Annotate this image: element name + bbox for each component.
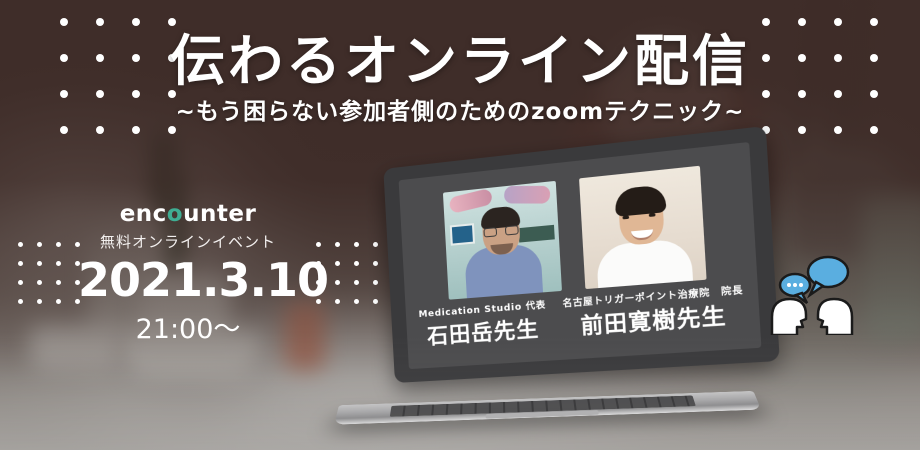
speaker-right-body	[596, 238, 693, 288]
webinar-promo-banner: 伝わるオンライン配信 ~もう困らない参加者側のためのzoomテクニック~ enc…	[0, 0, 920, 450]
decorative-dot	[316, 242, 321, 247]
event-info-block: encounter 無料オンラインイベント 2021.3.10 21:00〜	[78, 202, 298, 346]
speaker-caption-left: Medication Studio 代表 石田岳先生	[418, 297, 548, 351]
page-title: 伝わるオンライン配信	[0, 16, 920, 96]
video-tiles	[417, 163, 736, 302]
decorative-dot	[37, 299, 42, 304]
decorative-dot	[18, 261, 23, 266]
decorative-dot	[37, 280, 42, 285]
speaker-right-hair	[614, 184, 666, 216]
or-equipment	[518, 225, 554, 243]
decorative-dot	[18, 242, 23, 247]
decorative-dot	[56, 280, 61, 285]
logo-suffix: unter	[183, 201, 256, 227]
laptop-illustration: Medication Studio 代表 石田岳先生 名古屋トリガーポイント治療…	[335, 168, 760, 450]
decorative-dot	[798, 126, 806, 134]
video-tile-left	[443, 181, 562, 300]
laptop-lid: Medication Studio 代表 石田岳先生 名古屋トリガーポイント治療…	[383, 126, 779, 383]
event-date: 2021.3.10	[78, 256, 298, 304]
decorative-dot	[834, 126, 842, 134]
decorative-dot	[37, 242, 42, 247]
page-subtitle: ~もう困らない参加者側のためのzoomテクニック~	[0, 92, 920, 126]
decorative-dot	[37, 261, 42, 266]
dot-grid-mid-left	[18, 242, 80, 304]
decorative-dot	[132, 126, 140, 134]
decorative-dot	[168, 126, 176, 134]
logo-accent-o: o	[167, 201, 183, 227]
decorative-dot	[870, 126, 878, 134]
or-monitor-icon	[450, 223, 475, 246]
decorative-dot	[18, 280, 23, 285]
logo-prefix: enc	[120, 201, 167, 227]
laptop-screen: Medication Studio 代表 石田岳先生 名古屋トリガーポイント治療…	[399, 142, 762, 369]
decorative-dot	[56, 242, 61, 247]
video-tile-right	[579, 166, 707, 289]
decorative-dot	[56, 299, 61, 304]
decorative-dot	[96, 126, 104, 134]
event-time: 21:00〜	[78, 307, 298, 346]
two-people-speech-bubbles-icon	[760, 255, 862, 335]
laptop-base	[334, 391, 761, 425]
free-event-label: 無料オンラインイベント	[78, 231, 298, 252]
speaker-caption-right: 名古屋トリガーポイント治療院 院長 前田寛樹先生	[562, 282, 745, 342]
decorative-dot	[18, 299, 23, 304]
decorative-dot	[56, 261, 61, 266]
encounter-logo: encounter	[78, 202, 298, 227]
decorative-dot	[60, 126, 68, 134]
or-lamp-icon	[504, 186, 551, 204]
